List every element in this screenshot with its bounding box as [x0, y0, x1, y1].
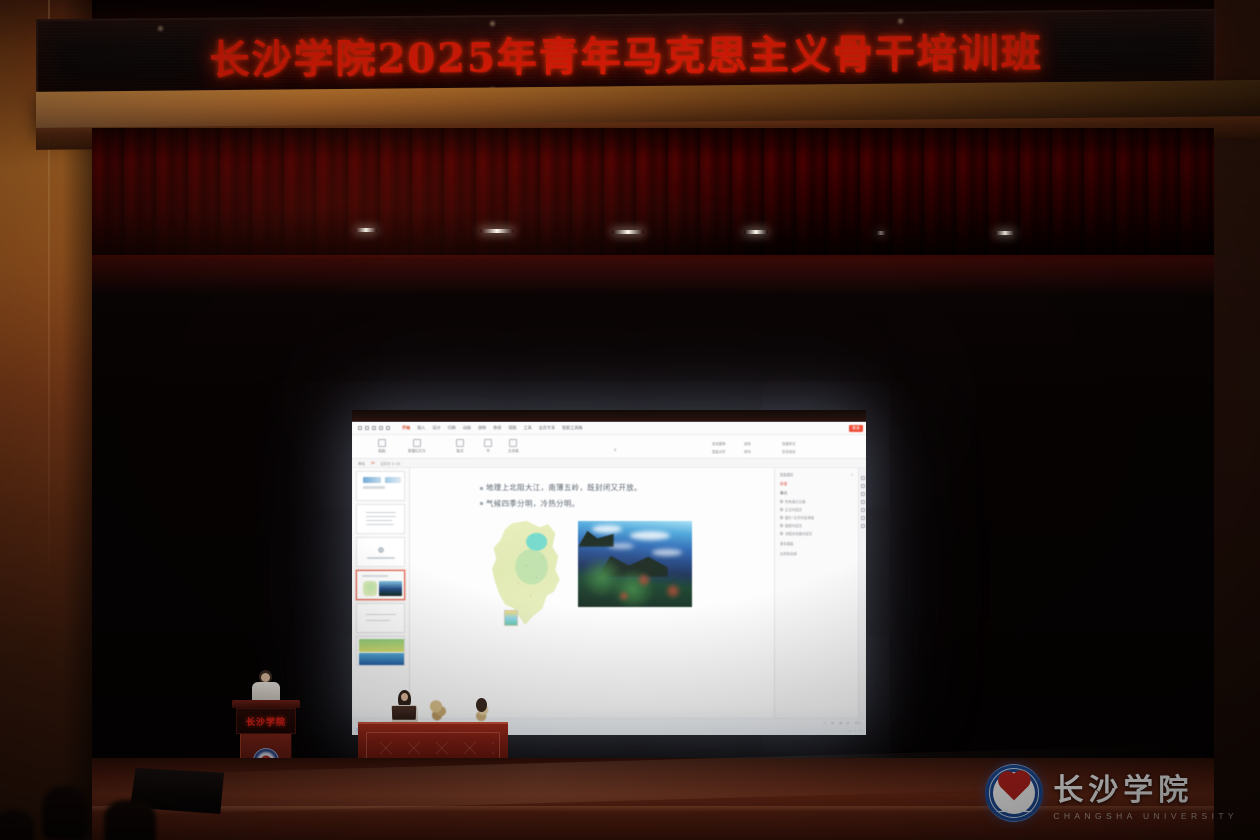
slideshow-icon[interactable]: ▶	[847, 721, 849, 725]
map-city-dot	[536, 577, 537, 578]
cloud	[592, 525, 622, 533]
thumb-art	[359, 639, 405, 652]
stage-light	[480, 229, 514, 233]
thumb-art	[367, 557, 395, 559]
slide-thumbnail[interactable]	[356, 636, 405, 666]
checkbox-icon[interactable]	[780, 524, 783, 527]
university-emblem-icon	[985, 764, 1043, 822]
slide-media-row	[492, 521, 692, 625]
thumb-art	[362, 575, 388, 577]
ribbon-shape-fill[interactable]: 形状填充	[782, 449, 796, 454]
ai-icon[interactable]	[861, 516, 865, 520]
ribbon-section[interactable]: 节	[484, 439, 492, 454]
autumn-foliage	[636, 573, 652, 587]
pane-section-label: 最近	[780, 491, 853, 496]
ribbon-layout[interactable]: 版式	[456, 439, 464, 454]
ribbon-paste[interactable]: 粘贴	[378, 439, 386, 454]
slide-canvas[interactable]: 地理上北阻大江，南薄五岭，既封闭又开放。 气候四季分明，冷热分明。	[410, 468, 774, 721]
tab-member[interactable]: 会员专享	[538, 425, 556, 431]
pane-new-button[interactable]: 新建	[780, 482, 853, 487]
layout-icon[interactable]	[456, 439, 464, 447]
thumb-art	[366, 512, 396, 513]
quick-access-toolbar[interactable]	[358, 426, 390, 430]
pane-close-icon[interactable]: ×	[851, 473, 853, 477]
ribbon-new-slide[interactable]: 新建幻灯片	[408, 439, 426, 454]
checkbox-icon[interactable]	[780, 532, 783, 535]
flower-arrangement	[428, 698, 448, 722]
lectern-name-text: 长沙学院	[246, 715, 286, 728]
autumn-foliage	[618, 591, 630, 601]
stage-light	[355, 228, 377, 232]
network-icon[interactable]: ▴	[845, 729, 847, 733]
bullet-marker-icon	[480, 502, 483, 505]
volume-icon[interactable]: ◉	[849, 729, 852, 733]
thumb-art	[363, 477, 381, 483]
text-box-icon[interactable]	[509, 439, 517, 447]
thumb-art	[366, 520, 392, 521]
stage-light	[876, 231, 886, 235]
laptop	[392, 706, 417, 720]
format-status-line: 等线 18 幻灯片 3 / 24	[352, 459, 866, 468]
ribbon-section-label: 节	[486, 449, 490, 454]
ribbon-text-box-label: 文本框	[508, 449, 519, 454]
pane-list-item[interactable]: 流程关系图内容页	[780, 531, 853, 536]
slide-thumbnail[interactable]	[356, 471, 405, 501]
print-icon[interactable]	[365, 426, 369, 430]
pane-title-row: 智能图形 ×	[780, 472, 853, 477]
tab-start[interactable]: 开始	[401, 425, 411, 431]
ribbon-paste-label: 粘贴	[378, 449, 385, 454]
thumb-art	[363, 486, 385, 489]
hunan-province-map-image[interactable]	[492, 521, 564, 625]
tab-slideshow[interactable]: 放映	[477, 425, 487, 431]
template-icon[interactable]	[861, 508, 865, 512]
touch-icon[interactable]	[386, 426, 390, 430]
app-ribbon: 粘贴 新建幻灯片 版式 节 文本框 A	[352, 435, 866, 459]
map-city-dot	[526, 565, 527, 566]
ribbon-arrange[interactable]: 排列	[744, 449, 751, 454]
ribbon-find-replace[interactable]: 查找替换	[712, 441, 726, 446]
banner-title: 长沙学院2025年青年马克思主义骨干培训班	[209, 20, 1042, 85]
projected-desktop: 开始 插入 设计 切换 动画 放映 审阅 视图 工具 会员专享 智能工具箱 登录…	[352, 422, 866, 735]
tab-smart-toolbox[interactable]: 智能工具箱	[561, 425, 583, 431]
tab-tools[interactable]: 工具	[523, 425, 533, 431]
pane-footer: 更多模板	[780, 541, 853, 546]
cloud	[652, 549, 682, 556]
slide-thumbnail-selected[interactable]	[356, 570, 405, 600]
ime-icon[interactable]: 中	[859, 729, 862, 733]
thumb-art	[366, 620, 390, 621]
slide-bullet: 地理上北阻大江，南薄五岭，既封闭又开放。	[476, 484, 708, 493]
university-wordmark: 长沙学院 CHANGSHA UNIVERSITY	[1053, 765, 1238, 821]
table-zigzag-ornament	[372, 742, 494, 754]
thumb-art	[385, 477, 401, 483]
pane-item-label: 正文内容页	[785, 507, 802, 512]
tab-design[interactable]: 设计	[431, 425, 441, 431]
autumn-foliage	[664, 583, 682, 599]
settings-icon[interactable]	[861, 524, 865, 528]
login-button[interactable]: 登录	[849, 425, 863, 432]
speaker-face	[261, 673, 270, 682]
new-slide-icon[interactable]	[413, 439, 421, 447]
map-city-dot	[530, 595, 531, 596]
section-icon[interactable]	[484, 439, 492, 447]
lectern-nameplate: 长沙学院	[236, 708, 296, 734]
banner-led-dot	[158, 26, 163, 31]
lectern-top	[232, 700, 300, 708]
tab-transition[interactable]: 切换	[447, 425, 457, 431]
auditorium-scene: 长沙学院2025年青年马克思主义骨干培训班	[0, 0, 1260, 840]
view-normal-icon[interactable]: ▢	[823, 721, 826, 725]
pane-footer2: 应用到全部	[780, 551, 853, 556]
thumb-art	[378, 547, 384, 553]
pane-item-label: 流程关系图内容页	[785, 531, 812, 536]
participant-face	[401, 693, 408, 701]
participant-hair	[476, 698, 487, 712]
status-note: 幻灯片 3 / 24	[381, 461, 401, 466]
speaker-at-lectern	[250, 670, 282, 702]
banner-led-dot	[490, 21, 495, 26]
undo-icon[interactable]	[372, 426, 376, 430]
slide-thumbnail[interactable]	[356, 537, 405, 567]
ribbon-text-box[interactable]: 文本框	[508, 439, 519, 454]
share-icon[interactable]	[861, 484, 865, 488]
slide-bullet: 气候四季分明，冷热分明。	[476, 500, 708, 509]
stage-light	[995, 231, 1015, 235]
slide-bullet-text: 地理上北阻大江，南薄五岭，既封闭又开放。	[486, 484, 642, 493]
zoom-level[interactable]: 66%	[855, 721, 861, 725]
checkbox-icon[interactable]	[780, 508, 783, 511]
resource-icon[interactable]	[861, 500, 865, 504]
paste-icon[interactable]	[378, 439, 386, 447]
slide-thumbnail[interactable]	[356, 504, 405, 534]
screen-top-frame	[352, 410, 866, 422]
history-icon[interactable]	[861, 492, 865, 496]
checkbox-icon[interactable]	[780, 500, 783, 503]
thumb-art	[366, 614, 396, 615]
mountain-landscape-photo[interactable]	[578, 521, 692, 607]
thumb-art	[366, 516, 396, 517]
stage-light	[744, 230, 768, 234]
pane-list-item[interactable]: 所有演示文稿	[780, 499, 853, 504]
app-tab-bar: 开始 插入 设计 切换 动画 放映 审阅 视图 工具 会员专享 智能工具箱 登录	[352, 422, 866, 435]
foreground-audience-head	[104, 800, 156, 840]
view-sorter-icon[interactable]: ▤	[831, 721, 834, 725]
pane-list-item[interactable]: 图表内容页	[780, 523, 853, 528]
university-name-cn: 长沙学院	[1053, 765, 1238, 809]
thumb-art	[379, 581, 402, 596]
ribbon-select[interactable]: 选择	[744, 441, 751, 446]
map-city-dot	[542, 557, 543, 558]
university-logo: 长沙学院 CHANGSHA UNIVERSITY	[985, 764, 1238, 822]
pane-item-label: 图表内容页	[785, 523, 802, 528]
system-tray[interactable]: ▴ ◉ ▭ 中	[845, 729, 863, 733]
view-reading-icon[interactable]: ▣	[839, 721, 842, 725]
pane-more-templates[interactable]: 更多模板	[780, 541, 794, 546]
bullet-marker-icon	[480, 487, 483, 490]
tab-review[interactable]: 审阅	[492, 425, 502, 431]
thumb-art	[359, 653, 405, 665]
pane-title: 智能图形	[780, 472, 794, 477]
projection-screen: 开始 插入 设计 切换 动画 放映 审阅 视图 工具 会员专享 智能工具箱 登录…	[352, 410, 866, 735]
cloud	[630, 531, 670, 540]
seated-participants	[358, 690, 508, 722]
pane-list-item[interactable]: 图片+文字内容排版	[780, 515, 853, 520]
tab-insert[interactable]: 插入	[416, 425, 426, 431]
tab-view[interactable]: 视图	[507, 425, 517, 431]
map-city-dot	[518, 583, 519, 584]
slide-bullet-text: 气候四季分明，冷热分明。	[486, 500, 580, 509]
pane-item-label: 图片+文字内容排版	[785, 515, 814, 520]
university-name-en: CHANGSHA UNIVERSITY	[1053, 811, 1238, 821]
font-name[interactable]: 等线	[358, 461, 365, 466]
ribbon-center-mark: A	[614, 448, 616, 452]
font-size[interactable]: 18	[371, 461, 375, 465]
backdrop-top-glow	[92, 255, 1214, 295]
stage-light	[612, 230, 644, 234]
foreground-audience-head	[0, 810, 34, 840]
thumb-art	[363, 581, 377, 596]
slide-thumbnail-panel[interactable]	[352, 468, 410, 721]
smart-graphics-pane[interactable]: 智能图形 × 新建 最近 所有演示文稿 正文内容页 图片+文字内容排版	[774, 468, 858, 721]
checkbox-icon[interactable]	[780, 516, 783, 519]
ribbon-smart-align[interactable]: 智能对齐	[712, 449, 726, 454]
thumb-art	[366, 524, 394, 525]
ribbon-quick-style[interactable]: 快速样式	[782, 441, 796, 446]
battery-icon[interactable]: ▭	[854, 729, 857, 733]
ribbon-layout-label: 版式	[456, 449, 463, 454]
pane-list-item[interactable]: 正文内容页	[780, 507, 853, 512]
tab-animation[interactable]: 动画	[462, 425, 472, 431]
map-legend	[504, 610, 518, 626]
banner-led-dot	[898, 19, 903, 24]
ribbon-new-slide-label: 新建幻灯片	[408, 449, 426, 454]
speaker-body	[252, 682, 280, 702]
cloud-icon[interactable]	[861, 476, 865, 480]
right-icon-rail[interactable]	[858, 468, 866, 721]
save-icon[interactable]	[358, 426, 362, 430]
redo-icon[interactable]	[379, 426, 383, 430]
slide-thumbnail[interactable]	[356, 603, 405, 633]
pane-apply-all[interactable]: 应用到全部	[780, 551, 797, 556]
foreground-audience-head	[42, 786, 88, 840]
pane-item-label: 所有演示文稿	[785, 499, 805, 504]
